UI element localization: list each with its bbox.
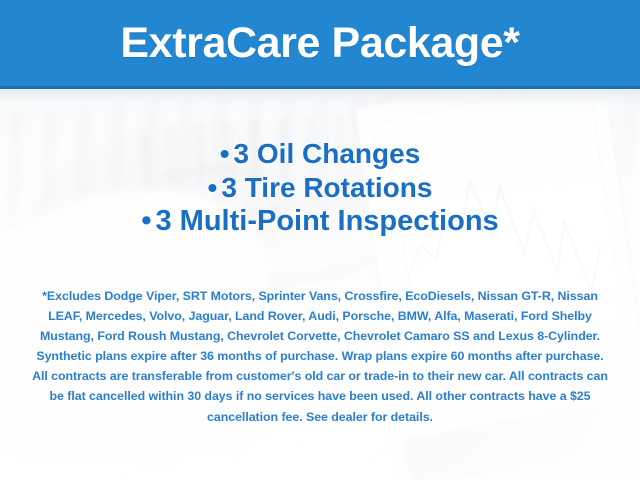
- page-title: ExtraCare Package*: [120, 22, 519, 65]
- bullet-dot-icon: •: [208, 172, 218, 203]
- benefit-label: 3 Tire Rotations: [221, 172, 432, 203]
- extracare-package-banner: ExtraCare Package* •3 Oil Changes •3 Tir…: [0, 0, 640, 480]
- list-item: •3 Multi-Point Inspections: [0, 207, 640, 237]
- bullet-dot-icon: •: [220, 138, 230, 169]
- disclaimer-text: *Excludes Dodge Viper, SRT Motors, Sprin…: [28, 286, 612, 427]
- benefits-list: •3 Oil Changes •3 Tire Rotations •3 Mult…: [0, 140, 640, 242]
- benefit-label: 3 Multi-Point Inspections: [155, 205, 498, 237]
- bullet-dot-icon: •: [141, 205, 151, 237]
- benefit-label: 3 Oil Changes: [234, 138, 421, 169]
- list-item: •3 Tire Rotations: [0, 174, 640, 203]
- photo-top-fade: [0, 89, 640, 115]
- header-bar: ExtraCare Package*: [0, 0, 640, 89]
- list-item: •3 Oil Changes: [0, 140, 640, 169]
